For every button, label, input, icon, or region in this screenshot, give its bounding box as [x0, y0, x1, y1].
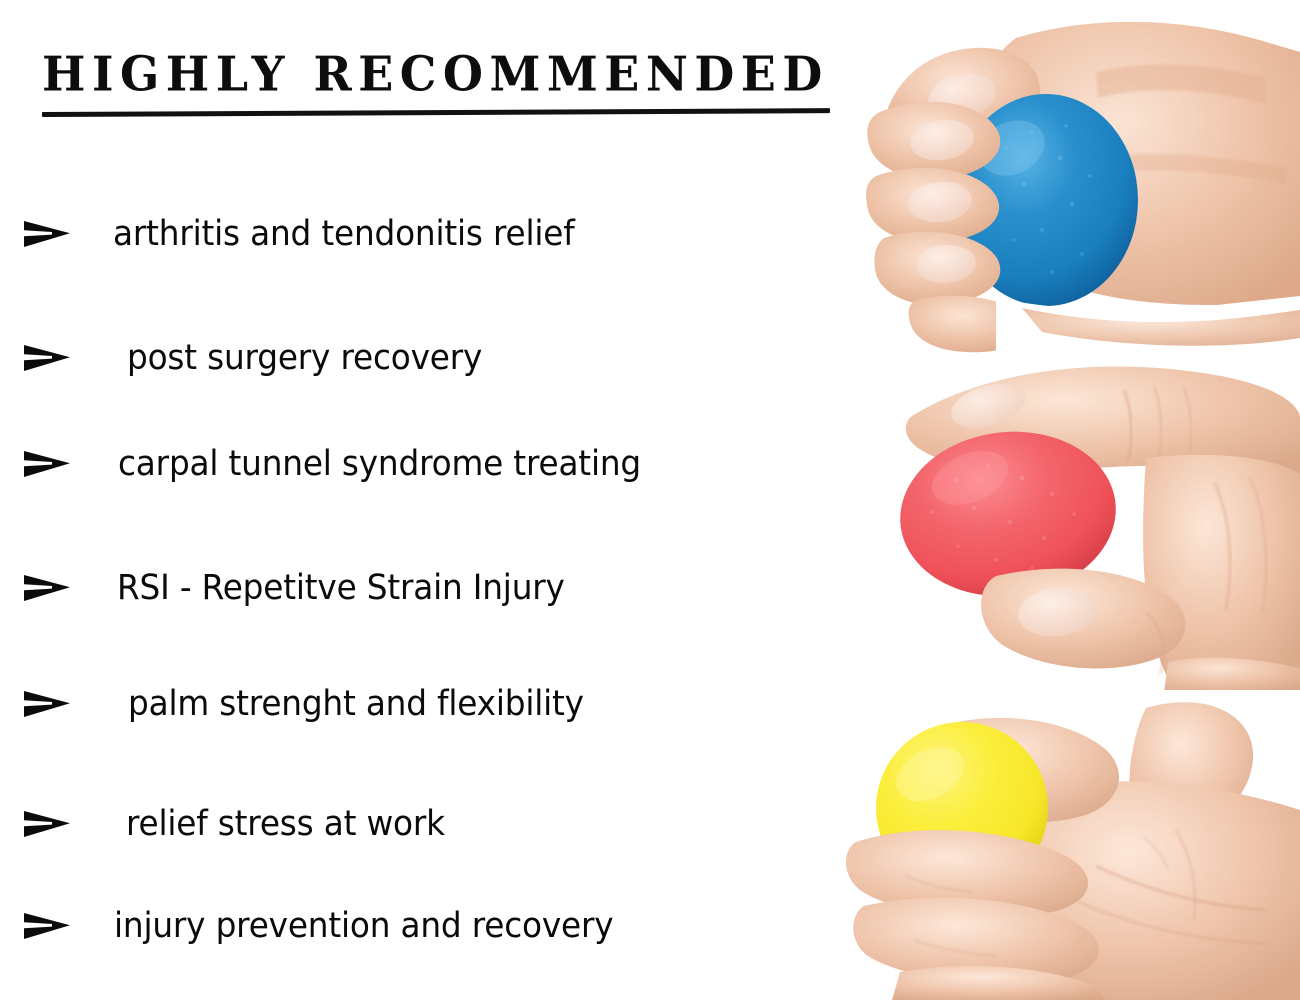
benefit-list: arthritis and tendonitis reliefpost surg…	[0, 0, 855, 1000]
benefit-item: RSI - Repetitve Strain Injury	[0, 560, 855, 616]
benefit-item-label: RSI - Repetitve Strain Injury	[117, 571, 565, 606]
arrow-triangle-icon	[22, 909, 72, 943]
red-stress-ball-pinch-photo	[846, 362, 1300, 692]
arrow-triangle-icon	[22, 807, 72, 841]
benefits-text-panel: HIGHLY RECOMMENDED FOR arthritis and ten…	[0, 0, 855, 1000]
hand-body	[1143, 455, 1300, 692]
arrow-triangle-icon	[22, 341, 72, 375]
benefit-item-label: palm strenght and flexibility	[128, 687, 584, 722]
benefit-item: relief stress at work	[0, 796, 855, 852]
infographic-page: HIGHLY RECOMMENDED FOR arthritis and ten…	[0, 0, 1300, 1000]
benefit-item-label: post surgery recovery	[127, 341, 482, 376]
product-photo-column	[846, 0, 1300, 1000]
benefit-item-label: arthritis and tendonitis relief	[113, 217, 575, 252]
benefit-item-label: relief stress at work	[126, 807, 445, 842]
arrow-triangle-icon	[22, 447, 72, 481]
benefit-item-label: carpal tunnel syndrome treating	[118, 447, 641, 482]
arrow-triangle-icon	[22, 217, 72, 251]
benefit-item: injury prevention and recovery	[0, 898, 855, 954]
arrow-triangle-icon	[22, 687, 72, 721]
benefit-item: palm strenght and flexibility	[0, 676, 855, 732]
benefit-item: post surgery recovery	[0, 330, 855, 386]
benefit-item: carpal tunnel syndrome treating	[0, 436, 855, 492]
yellow-stress-ball-palm-photo	[846, 690, 1300, 1000]
benefit-item: arthritis and tendonitis relief	[0, 206, 855, 262]
benefit-item-label: injury prevention and recovery	[114, 909, 613, 944]
blue-stress-ball-fist-photo	[846, 8, 1300, 358]
arrow-triangle-icon	[22, 571, 72, 605]
